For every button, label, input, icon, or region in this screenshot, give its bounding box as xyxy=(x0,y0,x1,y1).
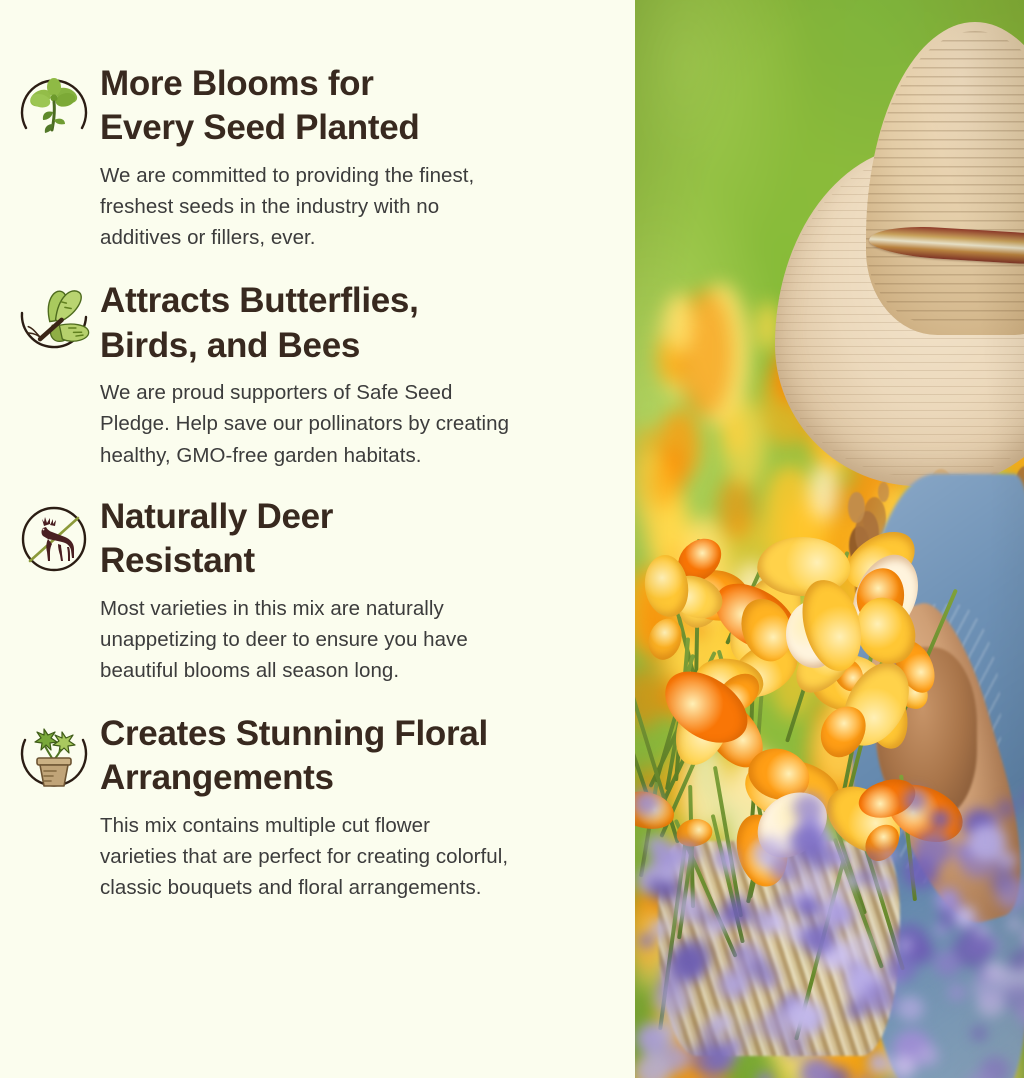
benefits-panel: More Blooms for Every Seed Planted We ar… xyxy=(0,0,635,1078)
benefit-text: Naturally Deer Resistant Most varieties … xyxy=(100,495,635,686)
purple-flower xyxy=(843,931,876,962)
purple-flower xyxy=(657,1019,680,1041)
purple-flower xyxy=(801,922,835,954)
purple-flower xyxy=(700,1025,717,1041)
purple-flower xyxy=(863,982,897,1014)
no-deer-icon xyxy=(8,495,100,587)
lifestyle-photo xyxy=(635,0,1024,1078)
benefit-title: Creates Stunning Floral Arrangements xyxy=(100,712,617,801)
bokeh-flower xyxy=(666,293,693,354)
purple-flower xyxy=(868,1053,890,1074)
benefit-title: Naturally Deer Resistant xyxy=(100,495,617,584)
purple-flower xyxy=(863,850,879,865)
benefit-text: Creates Stunning Floral Arrangements Thi… xyxy=(100,712,635,903)
bokeh-flower xyxy=(724,399,766,487)
hat-crown-weave xyxy=(866,31,1024,325)
purple-flower xyxy=(784,998,817,1029)
purple-flower xyxy=(846,1000,866,1019)
benefit-body: We are proud supporters of Safe Seed Ple… xyxy=(100,377,617,470)
benefit-item: Naturally Deer Resistant Most varieties … xyxy=(0,495,635,686)
purple-flower xyxy=(771,855,801,884)
flower-sprout-icon xyxy=(8,62,100,154)
purple-flower xyxy=(996,799,1016,818)
purple-flower xyxy=(971,1026,987,1041)
purple-flower xyxy=(783,1035,807,1058)
bokeh-flower xyxy=(652,457,679,509)
benefit-title: Attracts Butterflies, Birds, and Bees xyxy=(100,279,617,368)
benefit-title: More Blooms for Every Seed Planted xyxy=(100,62,617,151)
purple-flower xyxy=(828,847,851,869)
benefit-body: We are committed to providing the finest… xyxy=(100,160,617,253)
benefit-item: Attracts Butterflies, Birds, and Bees We… xyxy=(0,279,635,470)
purple-flower xyxy=(892,1055,916,1078)
purple-flower xyxy=(800,1057,833,1078)
photo-stage xyxy=(635,0,1024,1078)
purple-flower xyxy=(990,871,1013,893)
purple-flower xyxy=(843,873,860,890)
product-benefits-page: More Blooms for Every Seed Planted We ar… xyxy=(0,0,1024,1078)
purple-flower xyxy=(635,1054,670,1078)
purple-flower xyxy=(796,896,821,920)
purple-flower xyxy=(726,976,744,993)
purple-wildflowers-foreground xyxy=(635,787,1024,1078)
purple-flower xyxy=(800,868,830,896)
purple-flower xyxy=(764,911,787,933)
purple-flower xyxy=(935,924,948,936)
purple-flower xyxy=(828,902,858,931)
benefit-text: Attracts Butterflies, Birds, and Bees We… xyxy=(100,279,635,470)
straw-sun-hat xyxy=(775,22,1024,496)
benefit-text: More Blooms for Every Seed Planted We ar… xyxy=(100,62,635,253)
hair-curl xyxy=(878,482,889,502)
butterfly-icon xyxy=(8,279,100,371)
purple-flower xyxy=(903,789,928,813)
purple-flower xyxy=(635,790,660,817)
purple-flower xyxy=(674,938,711,974)
purple-flower xyxy=(691,1040,730,1077)
purple-flower xyxy=(757,1073,773,1078)
purple-flower xyxy=(954,906,976,927)
purple-flower xyxy=(934,950,962,977)
purple-flower xyxy=(639,934,654,948)
purple-flower xyxy=(936,888,960,911)
purple-flower xyxy=(881,848,896,862)
purple-flower xyxy=(897,996,924,1022)
purple-flower xyxy=(759,970,779,989)
purple-flower xyxy=(968,824,1006,860)
potted-plant-icon xyxy=(8,712,100,804)
benefit-body: Most varieties in this mix are naturally… xyxy=(100,593,617,686)
benefit-item: Creates Stunning Floral Arrangements Thi… xyxy=(0,712,635,903)
purple-flower xyxy=(975,923,990,938)
purple-flower xyxy=(702,922,720,939)
purple-flower xyxy=(720,858,738,875)
purple-flower xyxy=(931,810,950,828)
purple-flower xyxy=(743,1023,755,1035)
purple-flower xyxy=(651,920,669,938)
purple-flower xyxy=(914,831,952,867)
benefit-item: More Blooms for Every Seed Planted We ar… xyxy=(0,62,635,253)
purple-flower xyxy=(948,984,965,1001)
purple-flower xyxy=(775,893,791,908)
purple-flower xyxy=(730,945,745,959)
purple-flower xyxy=(916,1045,938,1066)
purple-flower xyxy=(1007,917,1022,931)
purple-flower xyxy=(793,793,825,823)
benefit-body: This mix contains multiple cut flower va… xyxy=(100,810,617,903)
